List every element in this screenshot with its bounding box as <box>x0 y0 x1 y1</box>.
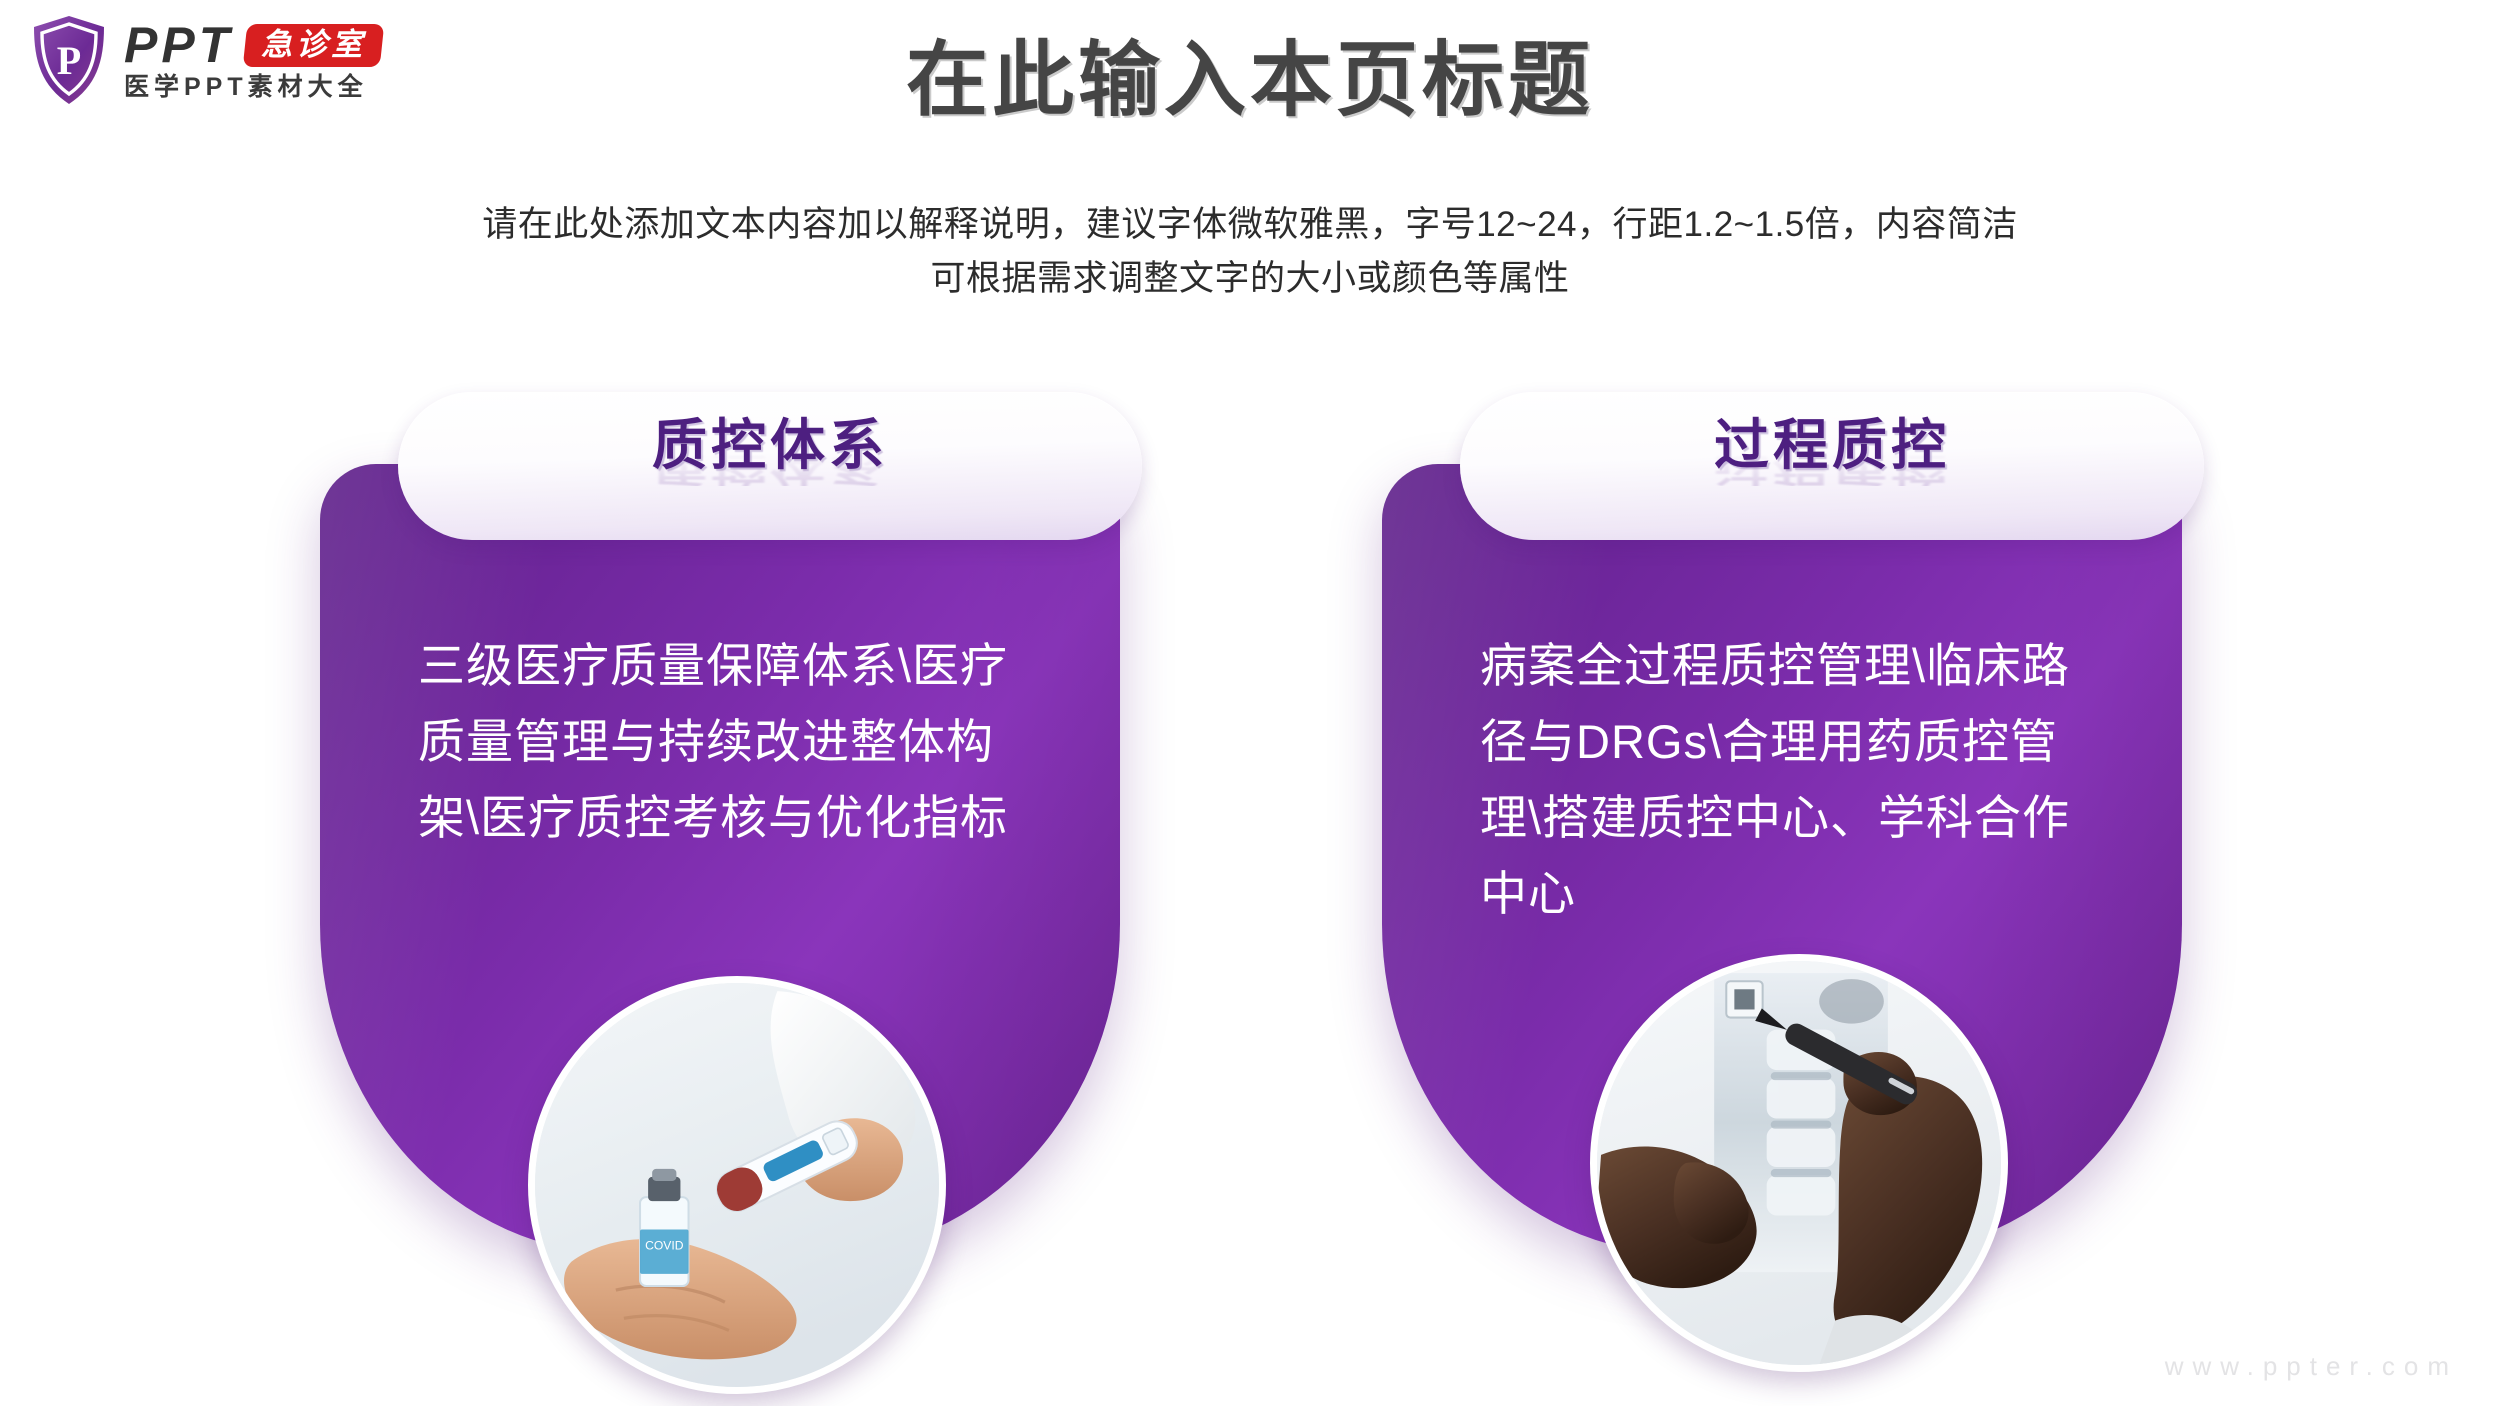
page-subtitle-line-2: 可根据需求调整文字的大小或颜色等属性 <box>0 252 2500 306</box>
card-header-label: 过程质控 <box>1714 392 1950 473</box>
shield-card-group: 质控体系 质控体系 三级医疗质量保障体系\医疗质量管理与持续改进整体构架\医疗质… <box>0 392 2500 1352</box>
page-title: 在此输入本页标题 <box>0 36 2500 126</box>
card-header-pill[interactable]: 过程质控 过程质控 <box>1460 392 2204 540</box>
svg-text:COVID: COVID <box>645 1239 684 1253</box>
card-photo-vaccine: COVID <box>528 976 946 1394</box>
shield-card-quality-system[interactable]: 质控体系 质控体系 三级医疗质量保障体系\医疗质量管理与持续改进整体构架\医疗质… <box>320 392 1120 1342</box>
page-subtitle-line-1: 请在此处添加文本内容加以解释说明，建议字体微软雅黑，字号12~24，行距1.2~… <box>0 198 2500 252</box>
page-subtitle: 请在此处添加文本内容加以解释说明，建议字体微软雅黑，字号12~24，行距1.2~… <box>0 198 2500 307</box>
card-header-label: 质控体系 <box>652 392 888 473</box>
shield-card-process-quality[interactable]: 过程质控 过程质控 病案全过程质控管理\临床路径与DRGs\合理用药质控管理\搭… <box>1382 392 2182 1342</box>
card-photo-xray <box>1590 954 2008 1372</box>
card-body-text: 病案全过程质控管理\临床路径与DRGs\合理用药质控管理\搭建质控中心、学科合作… <box>1480 628 2098 933</box>
card-header-pill[interactable]: 质控体系 质控体系 <box>398 392 1142 540</box>
card-body-text: 三级医疗质量保障体系\医疗质量管理与持续改进整体构架\医疗质控考核与优化指标 <box>418 628 1036 856</box>
slide-canvas: P PPT 急诊室 医学PPT素材大全 在此输入本页标题 请在此处添加文本内容加… <box>0 0 2500 1406</box>
site-watermark: www.ppter.com <box>2165 1351 2458 1382</box>
